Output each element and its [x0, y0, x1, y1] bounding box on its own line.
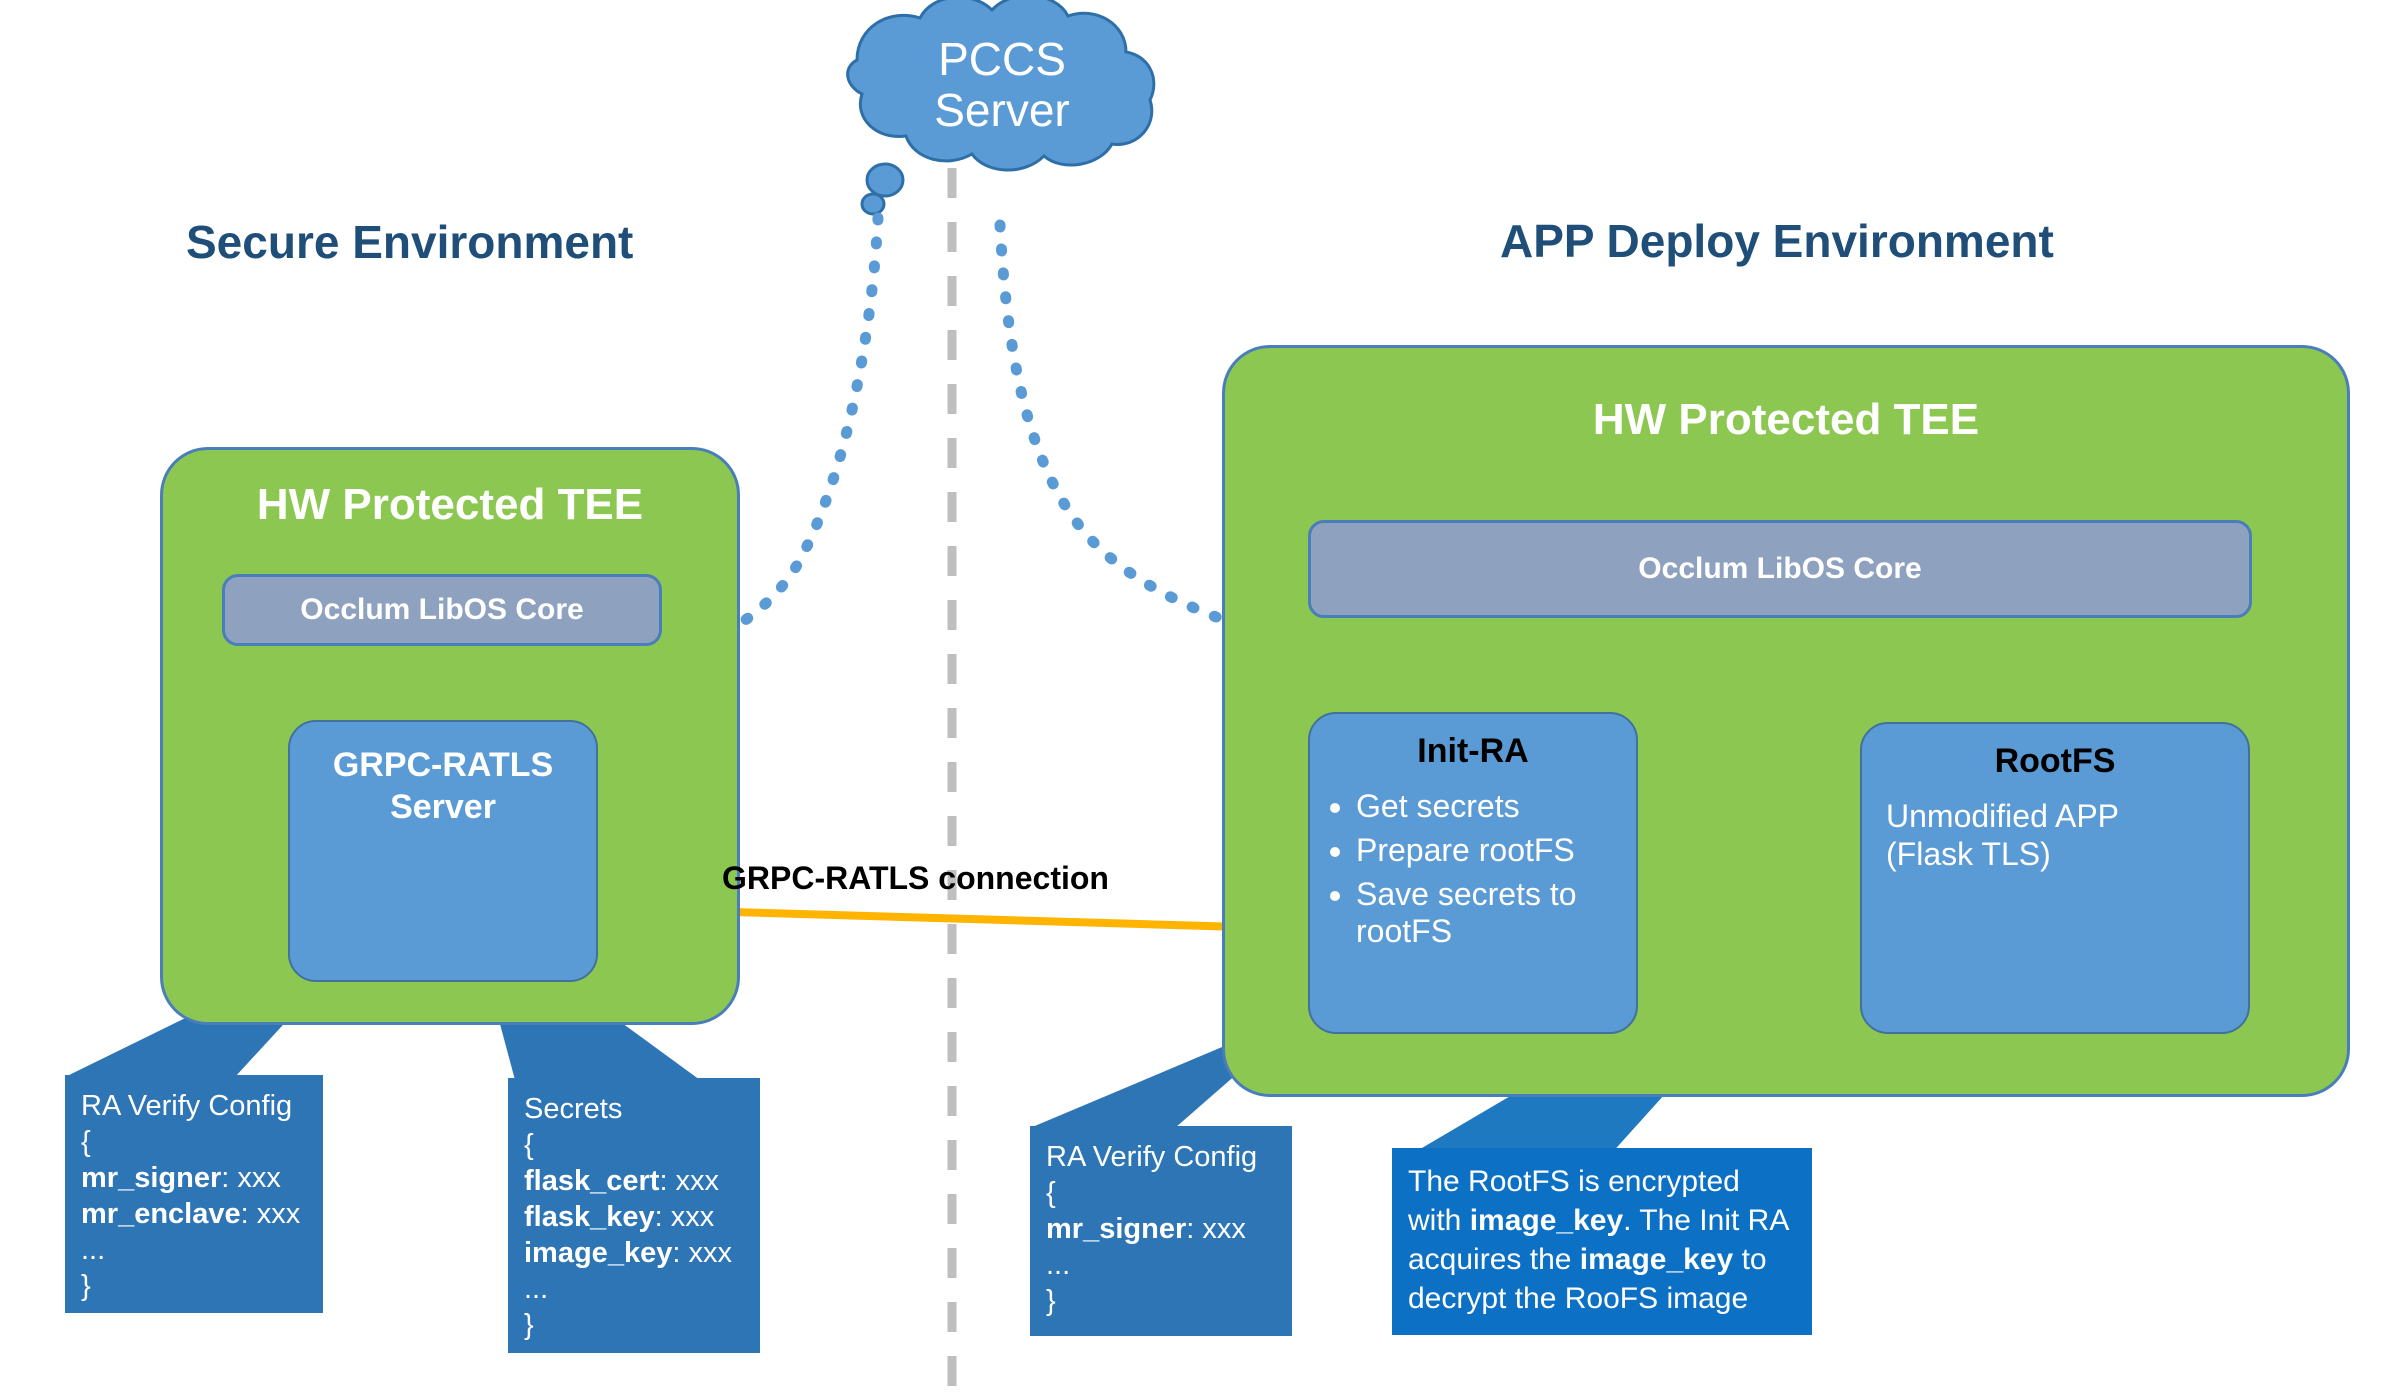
callout-ellipsis: ... [81, 1233, 307, 1269]
note-line-1: The RootFS is encrypted [1408, 1162, 1796, 1201]
note-line-4: decrypt the RooFS image [1408, 1279, 1796, 1318]
callout-ellipsis: ... [524, 1272, 744, 1308]
callout-entry-key: mr_signer [1046, 1213, 1186, 1245]
note-text: . The Init RA [1623, 1204, 1789, 1237]
callout-entry: mr_signer: xxx [1046, 1212, 1276, 1248]
callout-ellipsis: ... [1046, 1248, 1276, 1284]
callout-entry-value: : xxx [659, 1165, 719, 1197]
grpc-ratls-server-title-line2: Server [290, 788, 596, 827]
callout-entry-key: flask_cert [524, 1165, 659, 1197]
callout-title: RA Verify Config [1046, 1140, 1276, 1176]
rootfs-description-line2: (Flask TLS) [1886, 836, 2246, 874]
callout-open-brace: { [1046, 1176, 1276, 1212]
grpc-ratls-server-box[interactable]: GRPC-RATLS Server [288, 720, 598, 982]
callout-close-brace: } [81, 1269, 307, 1305]
callout-open-brace: { [524, 1128, 744, 1164]
callout-entry-key: mr_signer [81, 1162, 221, 1194]
callout-entry-value: : xxx [221, 1162, 281, 1194]
init-ra-title: Init-RA [1310, 732, 1636, 771]
callout-entry-value: : xxx [655, 1201, 715, 1233]
callout-title: Secrets [524, 1092, 744, 1128]
note-text: to [1733, 1243, 1766, 1276]
rootfs-description: Unmodified APP (Flask TLS) [1886, 798, 2246, 874]
callout-open-brace: { [81, 1125, 307, 1161]
grpc-ratls-connection-label: GRPC-RATLS connection [722, 860, 1109, 897]
callout-entry-value: : xxx [241, 1198, 301, 1230]
note-line-3: acquires the image_key to [1408, 1240, 1796, 1279]
callout-entry-key: mr_enclave [81, 1198, 241, 1230]
note-text: acquires the [1408, 1243, 1580, 1276]
init-ra-bullet: Save secrets to rootFS [1356, 876, 1630, 952]
cloud-label-line1: PCCS [857, 34, 1147, 85]
callout-entry: image_key: xxx [524, 1236, 744, 1272]
note-text: with [1408, 1204, 1470, 1237]
init-ra-box[interactable]: Init-RA Get secrets Prepare rootFS Save … [1308, 712, 1638, 1034]
callout-close-brace: } [1046, 1284, 1276, 1320]
callout-title: RA Verify Config [81, 1089, 307, 1125]
occlum-libos-core-left: Occlum LibOS Core [222, 574, 662, 646]
callout-entry-key: flask_key [524, 1201, 655, 1233]
diagram-canvas: PCCS Server Secure Environment APP Deplo… [0, 0, 2390, 1399]
init-ra-bullets: Get secrets Prepare rootFS Save secrets … [1318, 788, 1630, 957]
note-line-2: with image_key. The Init RA [1408, 1201, 1796, 1240]
occlum-libos-core-right: Occlum LibOS Core [1308, 520, 2252, 618]
callout-rootfs-encryption-note: The RootFS is encrypted with image_key. … [1392, 1148, 1812, 1335]
rootfs-title: RootFS [1862, 742, 2248, 781]
callout-close-brace: } [524, 1308, 744, 1344]
init-ra-bullet: Prepare rootFS [1356, 832, 1630, 870]
callout-entry: mr_enclave: xxx [81, 1197, 307, 1233]
cloud-label-line2: Server [857, 85, 1147, 136]
callout-secrets: Secrets { flask_cert: xxx flask_key: xxx… [508, 1078, 760, 1353]
callout-entry: mr_signer: xxx [81, 1161, 307, 1197]
callout-entry-value: : xxx [1186, 1213, 1246, 1245]
grpc-ratls-server-title-line1: GRPC-RATLS [290, 746, 596, 785]
cloud-label: PCCS Server [857, 34, 1147, 135]
callout-ra-verify-config-left: RA Verify Config { mr_signer: xxx mr_enc… [65, 1075, 323, 1313]
callout-ra-verify-config-right: RA Verify Config { mr_signer: xxx ... } [1030, 1126, 1292, 1336]
note-emphasis: image_key [1580, 1243, 1733, 1276]
secure-environment-title: Secure Environment [186, 215, 633, 269]
callout-entry: flask_key: xxx [524, 1200, 744, 1236]
hw-protected-tee-right-title: HW Protected TEE [1222, 395, 2350, 445]
init-ra-bullet: Get secrets [1356, 788, 1630, 826]
app-deploy-environment-title: APP Deploy Environment [1500, 214, 2054, 268]
callout-entry-key: image_key [524, 1237, 672, 1269]
note-emphasis: image_key [1470, 1204, 1623, 1237]
rootfs-description-line1: Unmodified APP [1886, 798, 2246, 836]
hw-protected-tee-left-title: HW Protected TEE [160, 480, 740, 530]
callout-entry: flask_cert: xxx [524, 1164, 744, 1200]
rootfs-box[interactable]: RootFS Unmodified APP (Flask TLS) [1860, 722, 2250, 1034]
callout-entry-value: : xxx [672, 1237, 732, 1269]
